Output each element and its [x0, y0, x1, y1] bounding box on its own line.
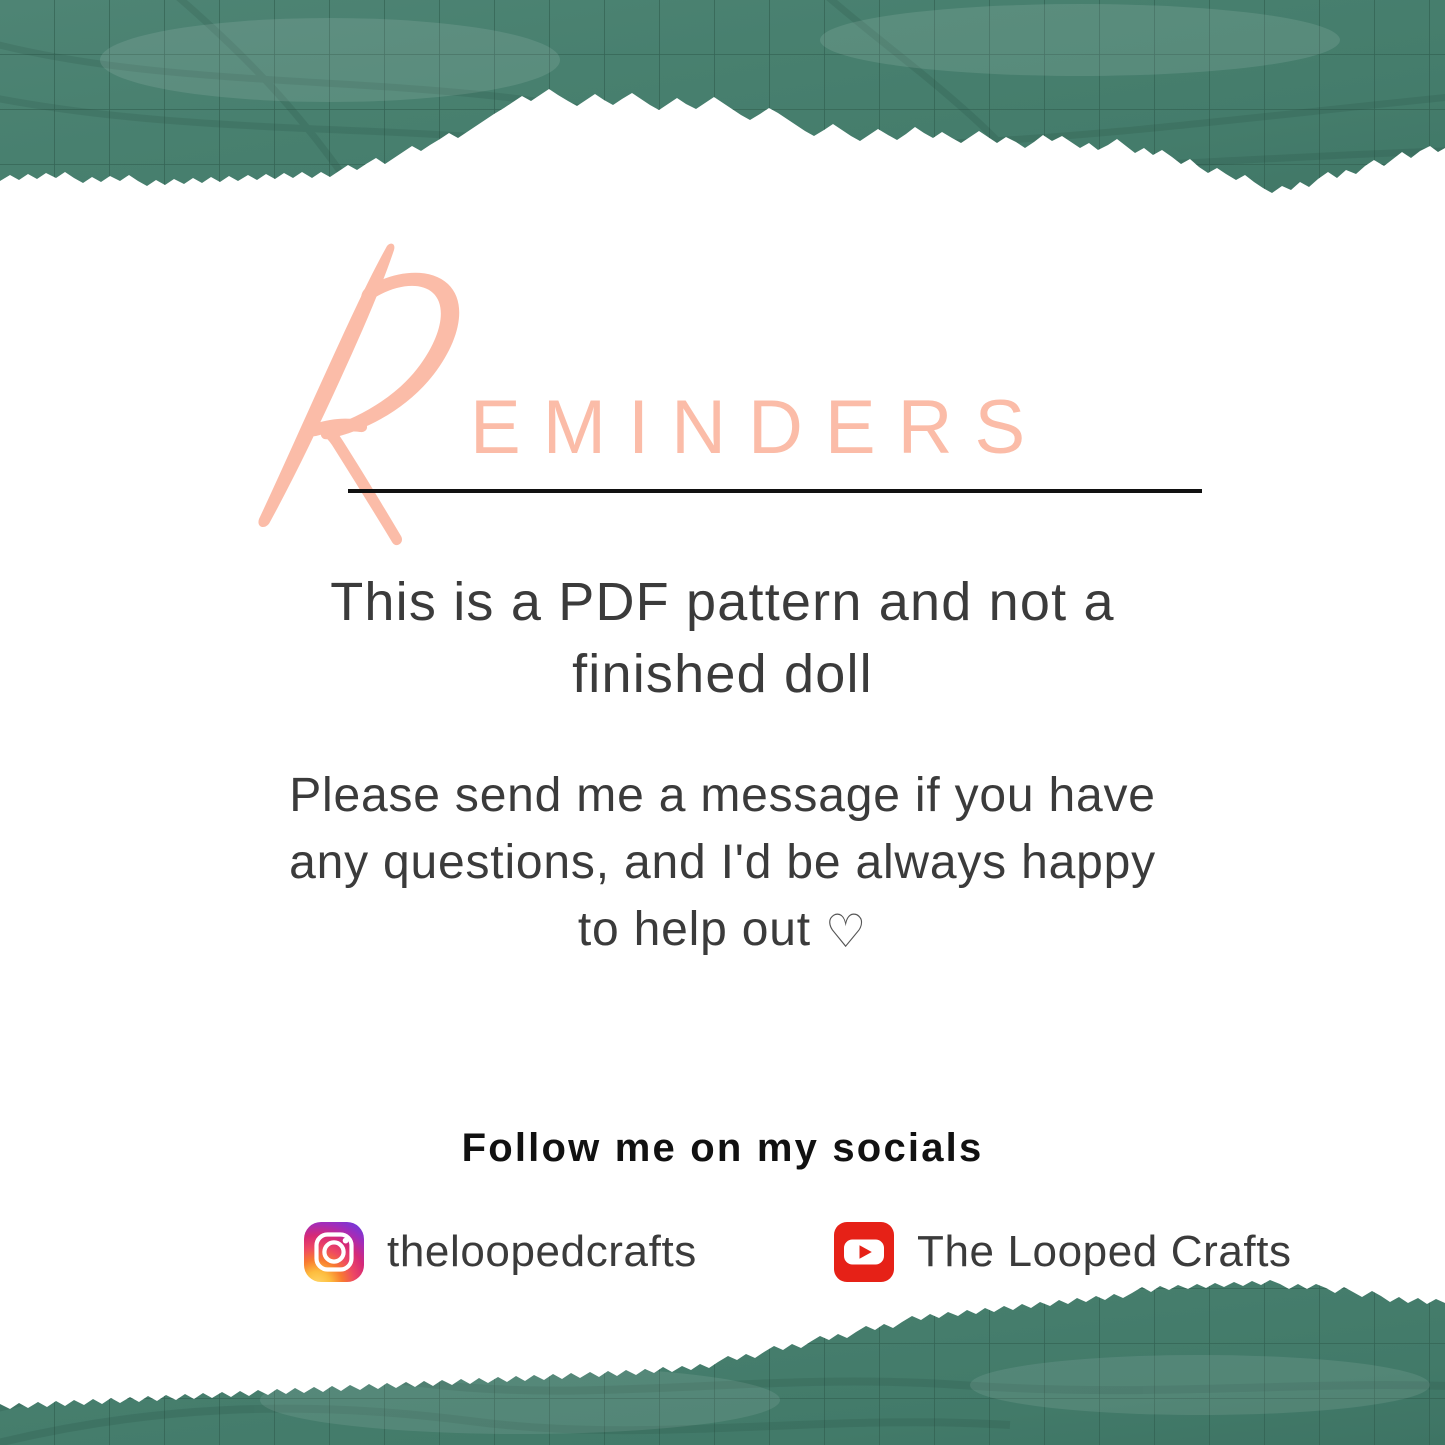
heart-icon: ♡	[825, 905, 867, 957]
reminder-line: This is a PDF pattern and not a	[0, 566, 1445, 638]
page-title-text: EMINDERS	[470, 390, 1047, 466]
reminder-line-text: to help out	[578, 903, 811, 956]
reminder-line: finished doll	[0, 638, 1445, 710]
script-letter-r-icon	[244, 240, 504, 550]
instagram-icon[interactable]	[303, 1221, 365, 1283]
page-title: EMINDERS	[0, 240, 1445, 530]
social-link-instagram[interactable]: theloopedcrafts	[303, 1206, 697, 1298]
reminders-page: EMINDERS This is a PDF pattern and not a…	[0, 0, 1445, 1445]
social-link-youtube[interactable]: The Looped Crafts	[833, 1206, 1292, 1298]
youtube-icon[interactable]	[833, 1221, 895, 1283]
title-divider	[348, 489, 1202, 493]
socials-row: theloopedcrafts The Looped Crafts	[0, 1206, 1445, 1298]
reminder-paragraph-1: This is a PDF pattern and not a finished…	[0, 566, 1445, 710]
reminder-line: any questions, and I'd be always happy	[0, 829, 1445, 896]
socials-heading: Follow me on my socials	[0, 1126, 1445, 1171]
reminder-line-with-heart: to help out ♡	[0, 896, 1445, 965]
reminder-paragraph-2: Please send me a message if you have any…	[0, 762, 1445, 965]
content-area: EMINDERS This is a PDF pattern and not a…	[0, 0, 1445, 1445]
youtube-channel-name[interactable]: The Looped Crafts	[917, 1227, 1292, 1277]
reminder-line: Please send me a message if you have	[0, 762, 1445, 829]
instagram-handle[interactable]: theloopedcrafts	[387, 1227, 697, 1277]
